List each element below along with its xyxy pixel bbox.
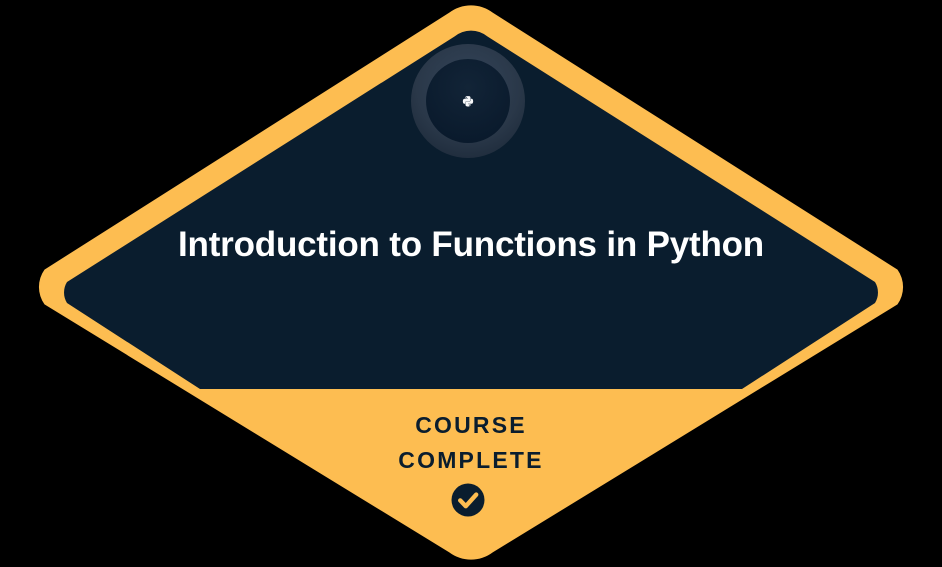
badge-graphic — [0, 0, 942, 567]
check-circle-icon — [452, 484, 485, 517]
course-completion-badge: Introduction to Functions in Python COUR… — [0, 0, 942, 567]
python-logo-medallion — [411, 44, 525, 158]
status-badge-label: COURSE COMPLETE — [271, 408, 671, 478]
course-title: Introduction to Functions in Python — [171, 222, 771, 268]
